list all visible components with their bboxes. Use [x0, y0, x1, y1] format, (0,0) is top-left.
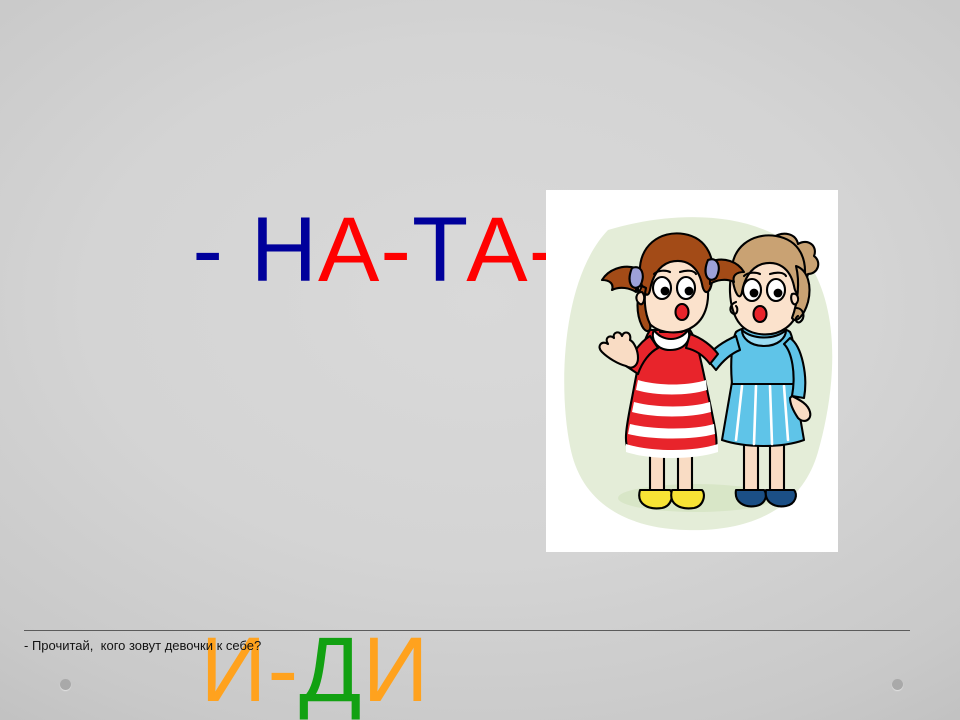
line2-seg-hyphen: -: [268, 619, 300, 720]
girl-left-pupil-right: [685, 287, 694, 296]
line1-seg-n: Н: [251, 199, 318, 301]
girl-right-pupil-left: [750, 289, 759, 298]
girl-left-pupil-left: [661, 287, 670, 296]
girl-right-mouth: [754, 306, 767, 322]
illustration-two-girls: [546, 190, 838, 552]
girl-left-ear: [636, 292, 644, 304]
line2-seg-d: Д: [299, 619, 362, 720]
bow-left: [630, 267, 643, 288]
girl-right-leg-right: [770, 442, 784, 490]
line2-seg-i2: И: [362, 619, 429, 720]
word-line-natasha: - НА-ТА-ША,: [33, 40, 533, 460]
line1-seg-hyphen1: -: [380, 199, 412, 301]
word-line-idi: И-ДИ: [33, 460, 533, 720]
footer-instruction-text: - Прочитай, кого зовут девочки к себе?: [24, 637, 261, 655]
footer-divider: [24, 630, 910, 631]
girl-right-shoe-right: [766, 490, 796, 506]
girl-left-shoe-left: [639, 490, 672, 508]
two-girls-illustration-svg: [546, 190, 838, 552]
line1-seg-a2: А: [466, 199, 528, 301]
bow-right: [706, 259, 719, 280]
girl-left-shoe-right: [671, 490, 704, 508]
girl-right-ear: [791, 294, 798, 305]
line1-seg-a1: А: [318, 199, 380, 301]
line1-seg-dash: -: [192, 199, 250, 301]
line1-seg-t: Т: [412, 199, 466, 301]
bottom-left-dot-icon: [60, 679, 71, 690]
bottom-right-dot-icon: [892, 679, 903, 690]
syllable-text-block: - НА-ТА-ША, И-ДИ К НАМ: [33, 40, 533, 720]
slide-canvas: - НА-ТА-ША, И-ДИ К НАМ: [0, 0, 960, 720]
girl-right-shoe-left: [736, 490, 766, 506]
girl-right-pupil-right: [774, 289, 783, 298]
line2-seg-i1: И: [200, 619, 267, 720]
girl-left-mouth: [676, 304, 689, 320]
girl-right-leg-left: [744, 442, 758, 490]
